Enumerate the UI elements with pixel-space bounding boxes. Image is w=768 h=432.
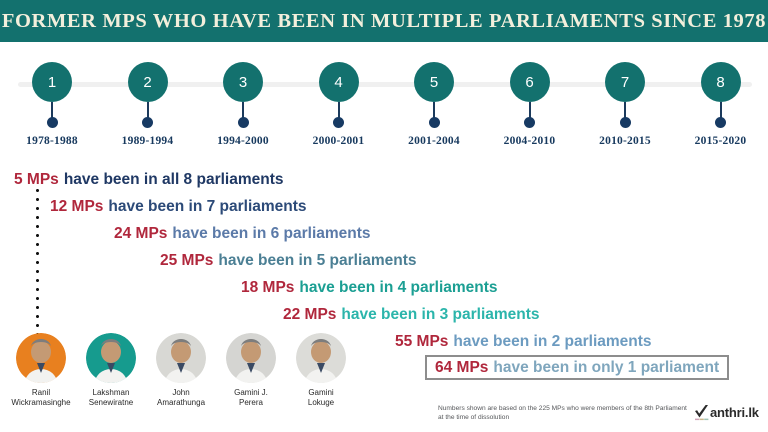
timeline-stem: [433, 102, 435, 118]
timeline-node-6[interactable]: 62004-2010: [482, 42, 578, 147]
page-header: FORMER MPS WHO HAVE BEEN IN MULTIPLE PAR…: [0, 0, 768, 42]
mp-count-description: have been in 4 parliaments: [299, 279, 497, 297]
timeline-circle: 6: [510, 62, 550, 102]
mp-name-line2: Senewiratne: [89, 398, 133, 407]
timeline-number: 1: [48, 74, 56, 91]
mp-count-description: have been in only 1 parliament: [493, 359, 719, 377]
timeline-stem: [720, 102, 722, 118]
avatar: [86, 333, 136, 383]
mp-name-line1: Gamini J.: [234, 388, 268, 397]
mp-count-value: 64 MPs: [435, 359, 488, 377]
mp-portrait[interactable]: Gamini J.Perera: [216, 333, 286, 407]
mp-name-line1: Gamini: [308, 388, 333, 397]
mp-name-line1: Lakshman: [93, 388, 130, 397]
timeline-stem: [51, 102, 53, 118]
timeline-node-7[interactable]: 72010-2015: [577, 42, 673, 147]
mp-portrait[interactable]: JohnAmarathunga: [146, 333, 216, 407]
mp-count-row: 24 MPshave been in 6 parliaments: [114, 220, 371, 247]
mp-portrait-gallery: RanilWickramasingheLakshmanSenewiratneJo…: [6, 333, 356, 407]
timeline-node-1[interactable]: 11978-1988: [4, 42, 100, 147]
mp-name-line2: Lokuge: [308, 398, 334, 407]
timeline-circle: 2: [128, 62, 168, 102]
mp-name-line2: Wickramasinghe: [11, 398, 70, 407]
timeline-dot: [715, 117, 726, 128]
mp-count-description: have been in all 8 parliaments: [64, 171, 284, 189]
mp-count-value: 5 MPs: [14, 171, 59, 189]
timeline-node-8[interactable]: 82015-2020: [673, 42, 768, 147]
avatar: [226, 333, 276, 383]
timeline-circle: 7: [605, 62, 645, 102]
mp-count-value: 18 MPs: [241, 279, 294, 297]
timeline-stem: [338, 102, 340, 118]
timeline-number: 6: [525, 74, 533, 91]
mp-count-value: 24 MPs: [114, 225, 167, 243]
timeline-period-label: 2001-2004: [386, 135, 482, 147]
page-title: FORMER MPS WHO HAVE BEEN IN MULTIPLE PAR…: [2, 10, 766, 33]
mp-count-description: have been in 6 parliaments: [172, 225, 370, 243]
footnote: Numbers shown are based on the 225 MPs w…: [438, 404, 688, 422]
mp-count-description: have been in 3 parliaments: [341, 306, 539, 324]
logo-text: anthri.lk: [710, 405, 759, 420]
mp-name-line2: Amarathunga: [157, 398, 205, 407]
timeline-stem: [529, 102, 531, 118]
timeline-stem: [242, 102, 244, 118]
mp-portrait[interactable]: RanilWickramasinghe: [6, 333, 76, 407]
anthri-logo[interactable]: anthri.lk: [694, 404, 759, 421]
timeline-number: 7: [621, 74, 629, 91]
timeline-node-2[interactable]: 21989-1994: [100, 42, 196, 147]
timeline-dot: [429, 117, 440, 128]
timeline-dot: [47, 117, 58, 128]
timeline-circle: 4: [319, 62, 359, 102]
timeline-period-label: 2004-2010: [482, 135, 578, 147]
timeline-stem: [147, 102, 149, 118]
parliament-timeline: 11978-198821989-199431994-200042000-2001…: [0, 42, 768, 152]
timeline-node-5[interactable]: 52001-2004: [386, 42, 482, 147]
timeline-circle: 1: [32, 62, 72, 102]
mp-name: GaminiLokuge: [286, 388, 356, 407]
avatar: [296, 333, 346, 383]
mp-count-description: have been in 2 parliaments: [453, 333, 651, 351]
timeline-circle: 3: [223, 62, 263, 102]
timeline-number: 3: [239, 74, 247, 91]
timeline-circle: 8: [701, 62, 741, 102]
mp-count-value: 12 MPs: [50, 198, 103, 216]
timeline-stem: [624, 102, 626, 118]
mp-count-row: 5 MPshave been in all 8 parliaments: [14, 166, 283, 193]
avatar: [156, 333, 206, 383]
mp-portrait[interactable]: LakshmanSenewiratne: [76, 333, 146, 407]
timeline-period-label: 2000-2001: [291, 135, 387, 147]
mp-count-value: 25 MPs: [160, 252, 213, 270]
timeline-period-label: 2010-2015: [577, 135, 673, 147]
timeline-period-label: 1989-1994: [100, 135, 196, 147]
timeline-period-label: 1978-1988: [4, 135, 100, 147]
mp-count-description: have been in 5 parliaments: [218, 252, 416, 270]
mp-count-row: 64 MPshave been in only 1 parliament: [425, 355, 729, 380]
timeline-number: 4: [334, 74, 342, 91]
mp-portrait[interactable]: GaminiLokuge: [286, 333, 356, 407]
timeline-dot: [333, 117, 344, 128]
mp-count-description: have been in 7 parliaments: [108, 198, 306, 216]
mp-name-line1: Ranil: [32, 388, 50, 397]
mp-count-value: 22 MPs: [283, 306, 336, 324]
avatar: [16, 333, 66, 383]
timeline-number: 2: [143, 74, 151, 91]
mp-name: JohnAmarathunga: [146, 388, 216, 407]
timeline-period-label: 1994-2000: [195, 135, 291, 147]
timeline-dot: [238, 117, 249, 128]
mp-count-value: 55 MPs: [395, 333, 448, 351]
timeline-node-4[interactable]: 42000-2001: [291, 42, 387, 147]
mp-name-line2: Perera: [239, 398, 263, 407]
timeline-dot: [142, 117, 153, 128]
mp-name: LakshmanSenewiratne: [76, 388, 146, 407]
mp-name: RanilWickramasinghe: [6, 388, 76, 407]
timeline-number: 8: [716, 74, 724, 91]
mp-count-row: 18 MPshave been in 4 parliaments: [241, 274, 498, 301]
mp-count-row: 22 MPshave been in 3 parliaments: [283, 301, 540, 328]
timeline-period-label: 2015-2020: [673, 135, 768, 147]
timeline-dot: [524, 117, 535, 128]
mp-count-row: 12 MPshave been in 7 parliaments: [50, 193, 307, 220]
timeline-circle: 5: [414, 62, 454, 102]
mp-count-row: 25 MPshave been in 5 parliaments: [160, 247, 417, 274]
mp-name: Gamini J.Perera: [216, 388, 286, 407]
timeline-dot: [620, 117, 631, 128]
mp-name-line1: John: [172, 388, 189, 397]
timeline-number: 5: [430, 74, 438, 91]
timeline-node-3[interactable]: 31994-2000: [195, 42, 291, 147]
mp-count-row: 55 MPshave been in 2 parliaments: [395, 328, 652, 355]
checkmark-icon: [694, 404, 710, 421]
